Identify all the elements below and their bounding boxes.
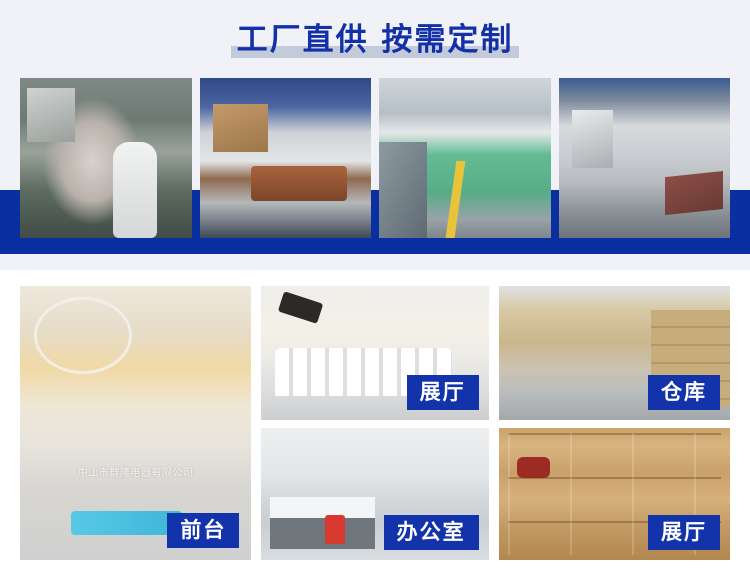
facility-gallery: 中山市群隆电器有限公司 前台 展厅 办公室 仓库 展厅	[20, 286, 730, 560]
banner-photo-strip	[20, 78, 730, 238]
promo-page: 工厂直供 按需定制 中山市群隆电器有限公司 前台	[0, 0, 750, 584]
page-title: 工厂直供 按需定制	[0, 18, 750, 62]
label-chip-warehouse: 仓库	[648, 375, 720, 410]
gallery-cell-warehouse-cartons: 仓库	[499, 286, 730, 420]
page-title-text: 工厂直供 按需定制	[237, 22, 514, 58]
gallery-cell-product-display-shelving: 展厅	[499, 428, 730, 560]
gallery-cell-reception-lobby: 中山市群隆电器有限公司 前台	[20, 286, 251, 560]
label-chip-showroom-bottom: 展厅	[648, 515, 720, 550]
gallery-cell-office-desks: 办公室	[261, 428, 488, 560]
label-chip-showroom-top: 展厅	[407, 375, 479, 410]
banner-photo-worker-assembling-water-heater	[20, 78, 192, 238]
gallery-column-middle: 展厅 办公室	[261, 286, 488, 560]
company-watermark: 中山市群隆电器有限公司	[78, 464, 194, 479]
factory-banner: 工厂直供 按需定制	[0, 0, 750, 270]
gallery-column-left: 中山市群隆电器有限公司 前台	[20, 286, 251, 560]
banner-photo-machine-shop-equipment	[559, 78, 731, 238]
label-chip-office: 办公室	[384, 515, 479, 550]
gallery-column-right: 仓库 展厅	[499, 286, 730, 560]
banner-photo-cnc-dispensing-machine	[200, 78, 372, 238]
label-chip-reception: 前台	[167, 513, 239, 548]
gallery-cell-showroom-wall: 展厅	[261, 286, 488, 420]
banner-photo-production-line-corridor	[379, 78, 551, 238]
